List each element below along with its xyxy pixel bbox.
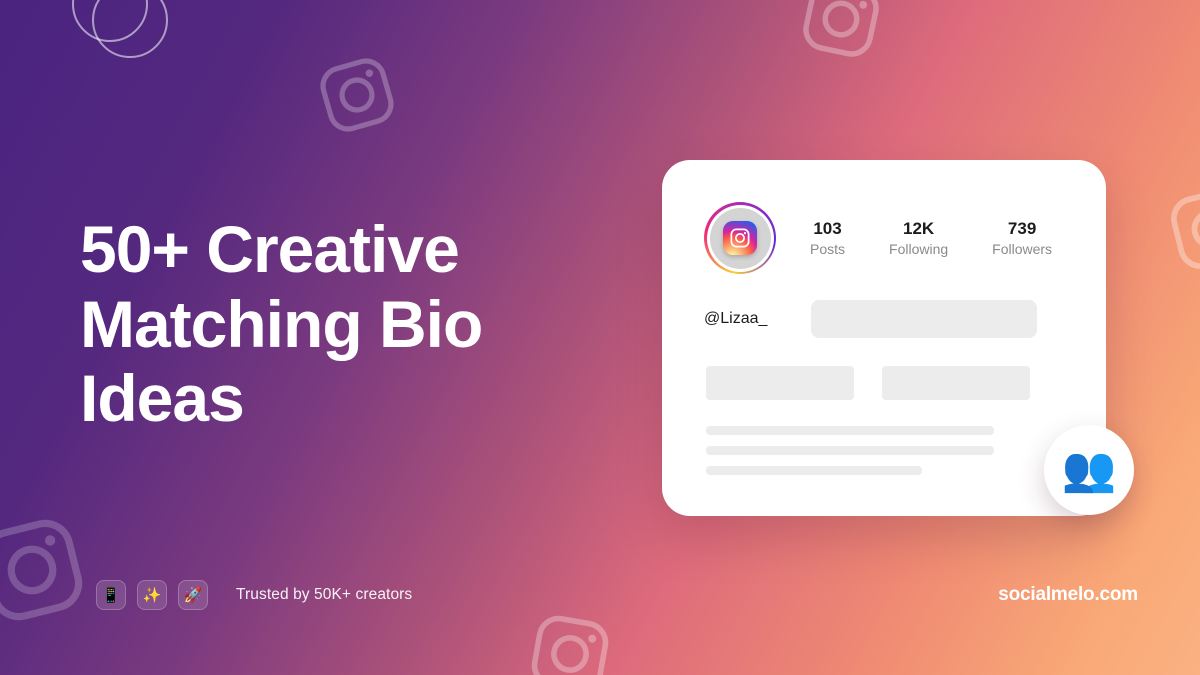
people-verified-icon: 👥 xyxy=(1044,425,1134,515)
stat-following: 12K Following xyxy=(889,218,948,257)
stat-value: 739 xyxy=(992,218,1052,239)
instagram-watermark-icon xyxy=(1159,177,1200,281)
trust-text: Trusted by 50K+ creators xyxy=(236,586,412,604)
instagram-watermark-icon xyxy=(521,605,618,675)
skeleton-blocks xyxy=(662,338,1106,400)
instagram-watermark-icon xyxy=(792,0,889,68)
brand-name: socialmelo.com xyxy=(998,584,1138,606)
skeleton-line xyxy=(706,446,994,455)
stat-value: 103 xyxy=(810,218,845,239)
stat-posts: 103 Posts xyxy=(810,218,845,257)
avatar-inner xyxy=(707,205,774,272)
rocket-icon: 🚀 xyxy=(178,580,208,610)
skeleton-line xyxy=(706,426,994,435)
circle-outline-b xyxy=(92,0,168,58)
avatar xyxy=(704,202,776,274)
avatar-disc xyxy=(710,208,771,269)
profile-card: 103 Posts 12K Following 739 Followers @L… xyxy=(662,160,1106,516)
overlapping-circles-icon xyxy=(72,0,212,92)
skeleton-pill xyxy=(811,300,1037,338)
instagram-icon xyxy=(723,221,757,255)
stat-label: Following xyxy=(889,240,948,258)
skeleton-block xyxy=(882,366,1030,400)
sparkles-icon: ✨ xyxy=(137,580,167,610)
instagram-watermark-icon xyxy=(309,47,405,143)
profile-handle: @Lizaa_ xyxy=(704,310,767,328)
profile-header: 103 Posts 12K Following 739 Followers xyxy=(662,160,1106,274)
instagram-watermark-icon xyxy=(0,505,97,636)
stat-value: 12K xyxy=(889,218,948,239)
page-title: 50+ Creative Matching Bio Ideas xyxy=(80,212,640,436)
skeleton-line xyxy=(706,466,922,475)
skeleton-block xyxy=(706,366,854,400)
poster-canvas: 50+ Creative Matching Bio Ideas 📱 ✨ 🚀 Tr… xyxy=(0,0,1200,675)
profile-stats: 103 Posts 12K Following 739 Followers xyxy=(810,218,1052,257)
trust-row: 📱 ✨ 🚀 Trusted by 50K+ creators xyxy=(96,580,412,610)
stat-label: Posts xyxy=(810,240,845,258)
skeleton-lines xyxy=(662,400,1106,475)
stat-label: Followers xyxy=(992,240,1052,258)
handle-row: @Lizaa_ xyxy=(662,274,1106,338)
mobile-phone-icon: 📱 xyxy=(96,580,126,610)
stat-followers: 739 Followers xyxy=(992,218,1052,257)
